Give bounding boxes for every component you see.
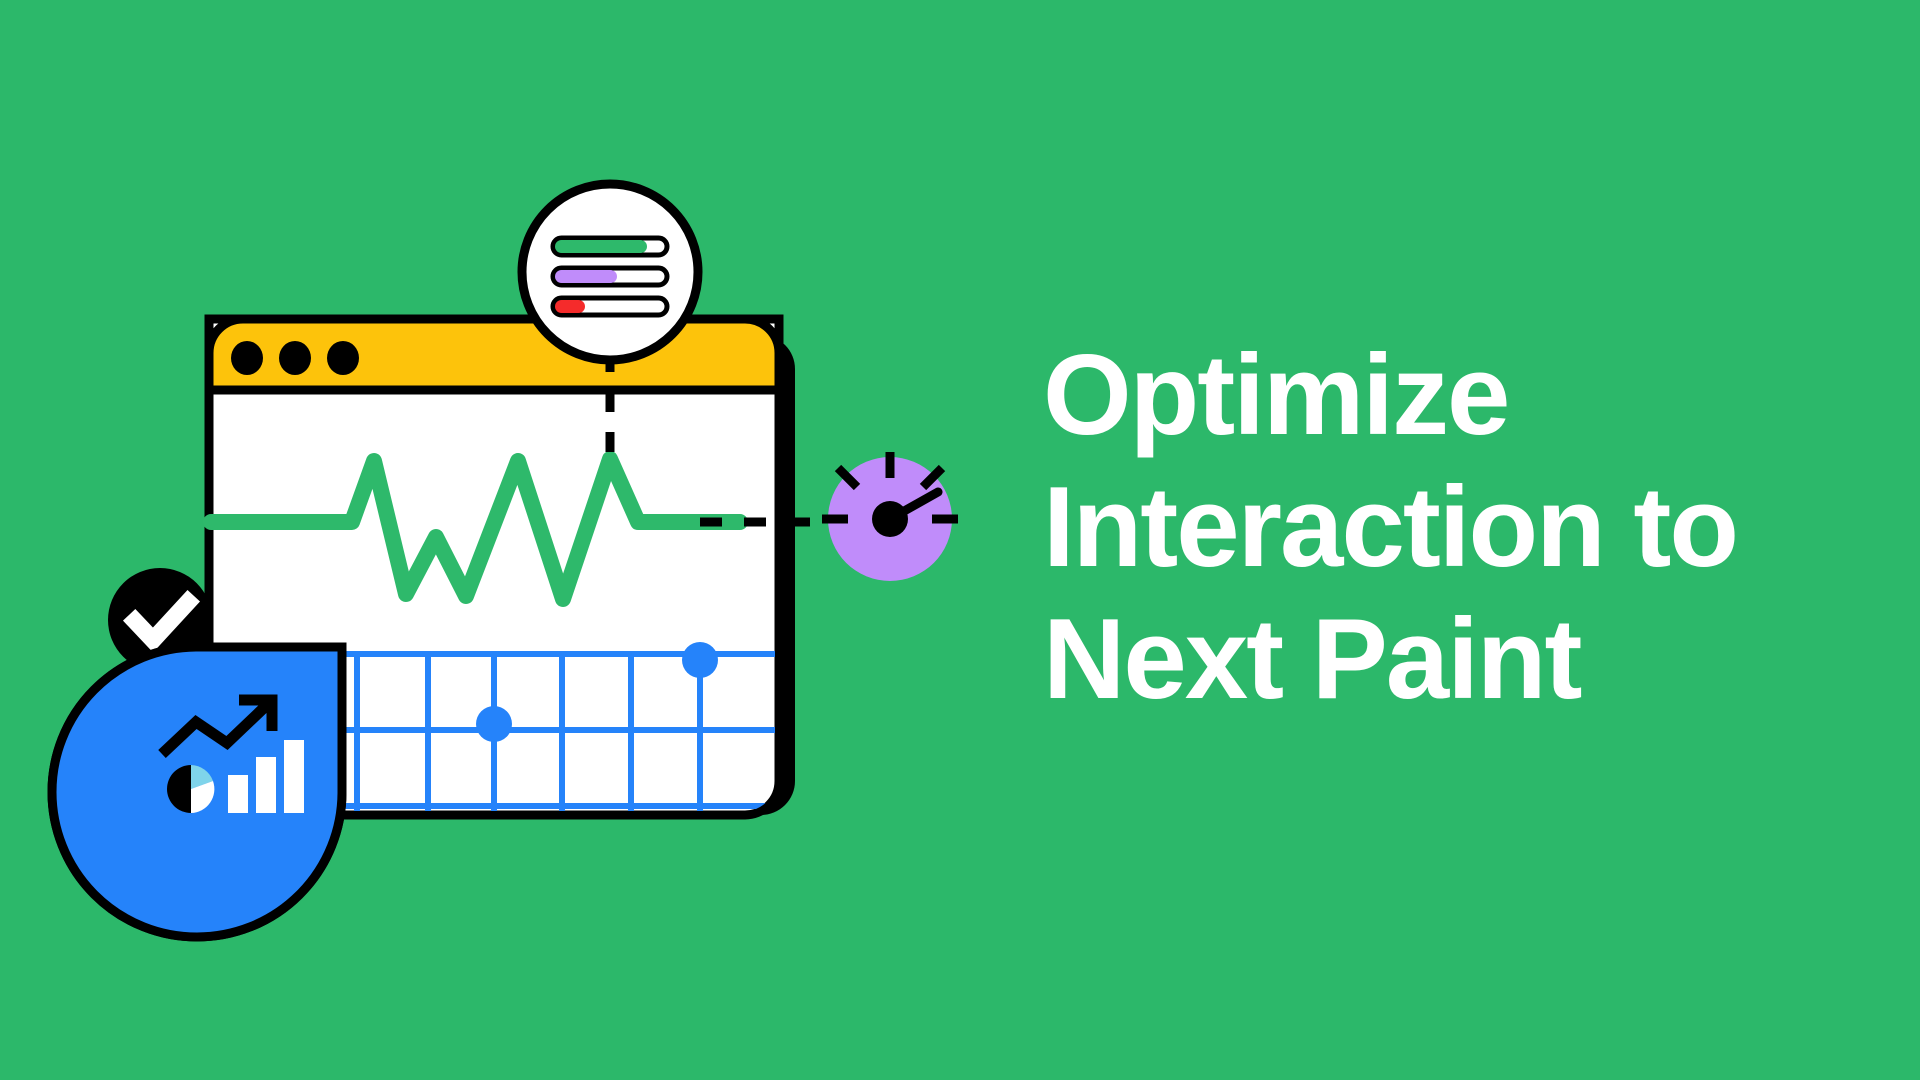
speed-gauge[interactable] — [822, 452, 958, 581]
progress-fill-purple — [555, 270, 617, 283]
grid-point-a — [476, 706, 512, 742]
pie-chart — [167, 765, 214, 813]
analytics-bar-2 — [256, 757, 276, 813]
window-dot-1[interactable] — [231, 341, 263, 375]
page-title: Optimize Interaction to Next Paint — [1043, 330, 1873, 726]
window-dot-3[interactable] — [327, 341, 359, 375]
window-dot-2[interactable] — [279, 341, 311, 375]
grid-point-b — [682, 642, 718, 678]
headline-line-3: Next Paint — [1043, 594, 1873, 726]
headline-line-2: Interaction to — [1043, 462, 1873, 594]
metrics-badge[interactable] — [522, 184, 698, 360]
headline-line-1: Optimize — [1043, 330, 1873, 462]
analytics-bar-1 — [228, 775, 248, 813]
analytics-badge[interactable] — [52, 647, 342, 937]
analytics-bar-3 — [284, 740, 304, 813]
progress-fill-green — [555, 240, 647, 253]
progress-fill-red — [555, 300, 585, 313]
gauge-hub — [872, 501, 908, 537]
illustration-banner: Optimize Interaction to Next Paint — [0, 0, 1920, 1080]
